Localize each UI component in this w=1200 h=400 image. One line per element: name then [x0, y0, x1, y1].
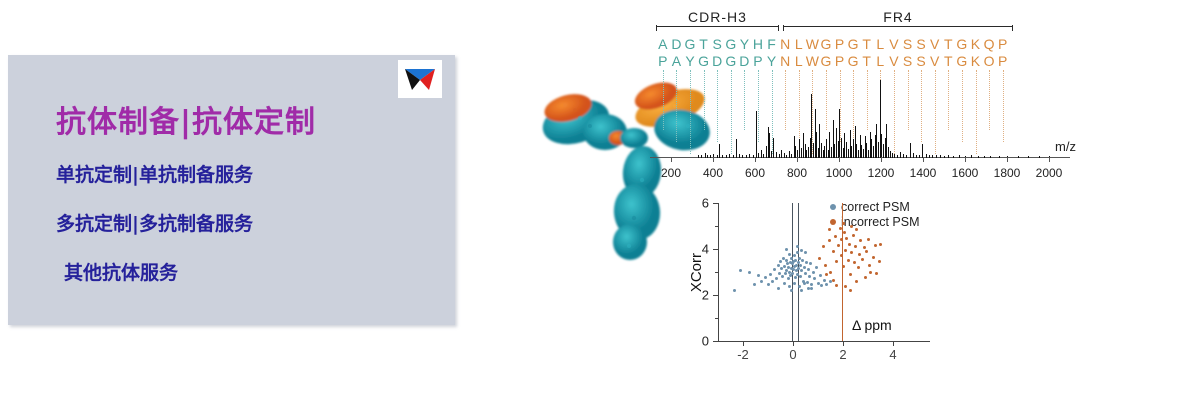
scatter-point-correct [793, 254, 796, 257]
spectrum-peak [710, 155, 711, 158]
spectrum-peak [701, 155, 702, 158]
scatter-point-incorrect [858, 253, 861, 256]
spectrum-peak [729, 154, 730, 158]
scatter-point-incorrect [878, 260, 881, 263]
bottom-residue: V [887, 53, 901, 70]
scatter-point-correct [778, 272, 781, 275]
top-residue: W [806, 36, 820, 53]
scatter-point-incorrect [849, 273, 852, 276]
bottom-residue: G [724, 53, 738, 70]
scatter-point-correct [769, 273, 772, 276]
list-item-mab[interactable]: 单抗定制|单抗制备服务 [56, 160, 436, 187]
bottom-residue: L [792, 53, 806, 70]
scatter-y-tick-label: 0 [702, 334, 709, 349]
scatter-y-minor-tick [715, 318, 718, 319]
mz-tick [755, 157, 756, 162]
scatter-point-correct [803, 282, 806, 285]
scatter-y-tick: 4 [713, 249, 718, 250]
scatter-point-correct [820, 284, 823, 287]
scatter-point-correct [799, 275, 802, 278]
top-residue: P [833, 36, 847, 53]
scatter-point-correct [773, 268, 776, 271]
bottom-residue: G [846, 53, 860, 70]
spectrum-peak [892, 153, 893, 158]
scatter-point-correct [733, 289, 736, 292]
spectrum-peak [984, 156, 985, 158]
scatter-point-incorrect [850, 251, 853, 254]
scatter-point-correct [817, 282, 820, 285]
spectrum-peak [913, 153, 914, 158]
scatter-point-correct [757, 274, 760, 277]
scatter-point-correct [788, 253, 791, 256]
mz-tick-label: 2000 [1036, 166, 1063, 180]
list-item-other[interactable]: 其他抗体服务 [64, 258, 436, 285]
top-residue: G [955, 36, 969, 53]
scatter-point-incorrect [855, 228, 858, 231]
scatter-point-incorrect [822, 245, 825, 248]
list-item-pab[interactable]: 多抗定制|多抗制备服务 [56, 209, 436, 236]
mz-tick [881, 157, 882, 162]
spectrum-peak [736, 139, 737, 158]
legend-label: correct PSM [841, 200, 910, 214]
scatter-point-correct [771, 280, 774, 283]
scatter-x-tick [743, 341, 744, 346]
spectrum-peak [940, 155, 941, 158]
spectrum-peak [758, 153, 759, 158]
bracket-bar [783, 26, 1013, 27]
top-residue: T [860, 36, 874, 53]
spectrum-peak [789, 151, 790, 158]
scatter-point-incorrect [844, 285, 847, 288]
scatter-point-correct [806, 281, 809, 284]
psm-scatter-plot: XCorr Δ ppm correct PSM incorrect PSM 02… [680, 195, 950, 370]
spectrum-peak [1028, 156, 1029, 158]
scatter-point-incorrect [828, 239, 831, 242]
scatter-point-incorrect [848, 243, 851, 246]
scatter-point-correct [799, 264, 802, 267]
bottom-residue: P [996, 53, 1010, 70]
spectrum-peak [791, 154, 792, 158]
top-residue: Q [982, 36, 996, 53]
top-residue: V [887, 36, 901, 53]
mz-tick-label: 1000 [826, 166, 853, 180]
mz-tick [1007, 157, 1008, 162]
spectrum-peak [776, 152, 777, 158]
bottom-residue: N [778, 53, 792, 70]
top-residue: K [969, 36, 983, 53]
scatter-point-correct [810, 283, 813, 286]
spectrum-peak [971, 155, 972, 158]
bottom-residue: P [751, 53, 765, 70]
spectrum-peak [779, 154, 780, 158]
spectrum-peak [742, 155, 743, 158]
top-residue: N [778, 36, 792, 53]
scatter-point-correct [775, 277, 778, 280]
spectrum-peak [897, 155, 898, 158]
spectrum-peak [999, 156, 1000, 158]
mz-tick-label: 800 [787, 166, 807, 180]
scatter-point-correct [791, 272, 794, 275]
top-residue: S [710, 36, 724, 53]
spectrum-peak [1018, 156, 1019, 158]
mz-tick [1049, 157, 1050, 162]
top-residue: F [765, 36, 779, 53]
spectrum-peak [773, 138, 774, 158]
bottom-residue: P [833, 53, 847, 70]
bottom-residue: G [697, 53, 711, 70]
spectrum-peak [929, 155, 930, 158]
scatter-x-tick-label: 0 [789, 347, 796, 362]
scatter-point-incorrect [859, 239, 862, 242]
scatter-point-correct [823, 279, 826, 282]
spectrum-peak [932, 155, 933, 158]
scatter-point-correct [748, 271, 751, 274]
page-title: 抗体制备|抗体定制 [56, 97, 316, 141]
spectrum-peak [959, 155, 960, 158]
scatter-point-correct [788, 285, 791, 288]
spectrum-peak [749, 154, 750, 158]
region-label-text: FR4 [878, 9, 917, 25]
scatter-point-incorrect [874, 244, 877, 247]
scatter-point-incorrect [835, 260, 838, 263]
top-residue: G [683, 36, 697, 53]
scatter-point-incorrect [875, 272, 878, 275]
mz-tick-label: 400 [703, 166, 723, 180]
scatter-point-correct [790, 289, 793, 292]
top-residue: D [670, 36, 684, 53]
legend-dot-icon [830, 219, 836, 225]
scatter-point-incorrect [832, 279, 835, 282]
scatter-point-incorrect [818, 257, 821, 260]
scatter-threshold-line [798, 203, 799, 341]
mz-tick [713, 157, 714, 162]
bottom-residue: D [738, 53, 752, 70]
bottom-residue: D [710, 53, 724, 70]
bottom-residue: L [874, 53, 888, 70]
legend-item-correct: correct PSM [830, 199, 920, 214]
bottom-residue: S [901, 53, 915, 70]
scatter-x-tick-label: 4 [889, 347, 896, 362]
region-label: FR4 [783, 9, 1013, 25]
scatter-y-tick-label: 4 [702, 242, 709, 257]
bottom-residue: G [955, 53, 969, 70]
scatter-x-tick [793, 341, 794, 346]
mz-tick-label: 1800 [994, 166, 1021, 180]
spectrum-peak [746, 155, 747, 158]
scatter-point-incorrect [867, 238, 870, 241]
scatter-point-correct [785, 248, 788, 251]
scatter-point-incorrect [832, 250, 835, 253]
scatter-point-incorrect [843, 231, 846, 234]
spectrum-peak [922, 144, 923, 158]
company-logo-icon [398, 60, 442, 98]
bottom-residue: T [941, 53, 955, 70]
spectrum-peak [771, 151, 772, 158]
sequence-alignment: ADGTSGYHFNLWGPGTLVSSVTGKQP PAYGDGDPYNLWG… [656, 36, 1009, 70]
region-label: CDR-H3 [656, 9, 779, 25]
bottom-residue: A [670, 53, 684, 70]
scatter-point-correct [825, 283, 828, 286]
spectrum-peak [903, 154, 904, 158]
spectrum-peak [761, 150, 762, 158]
spectrum-peak [705, 153, 706, 158]
mz-tick [797, 157, 798, 162]
top-residue: A [656, 36, 670, 53]
top-residue: G [724, 36, 738, 53]
spectrum-peak [936, 155, 937, 158]
spectrum-peak [717, 155, 718, 158]
spectrum-peak [1039, 156, 1040, 158]
scatter-point-correct [783, 265, 786, 268]
spectrum-peak [733, 155, 734, 158]
spectrum-peak [799, 139, 800, 158]
scatter-x-tick-label: 2 [839, 347, 846, 362]
spectrum-peak [910, 143, 911, 158]
scatter-x-tick-label: -2 [737, 347, 749, 362]
scatter-point-incorrect [868, 264, 871, 267]
scatter-point-correct [779, 260, 782, 263]
spectrum-peak [906, 155, 907, 158]
top-residue: T [697, 36, 711, 53]
scatter-point-correct [777, 264, 780, 267]
scatter-y-axis-label: XCorr [688, 253, 705, 292]
spectrum-peak [894, 154, 895, 158]
scatter-point-incorrect [839, 227, 842, 230]
scatter-point-incorrect [828, 228, 831, 231]
scatter-point-incorrect [834, 235, 837, 238]
scatter-point-incorrect [861, 258, 864, 261]
spectrum-peak [978, 156, 979, 158]
scatter-y-tick-label: 2 [702, 288, 709, 303]
scatter-point-correct [800, 249, 803, 252]
spectrum-peak [722, 155, 723, 158]
scatter-point-incorrect [849, 289, 852, 292]
scatter-point-incorrect [842, 222, 845, 225]
scatter-point-incorrect [863, 246, 866, 249]
scatter-point-correct [809, 262, 812, 265]
spectrum-peak [726, 155, 727, 158]
bracket-bar [656, 26, 779, 27]
top-residue: S [914, 36, 928, 53]
bottom-residue: P [656, 53, 670, 70]
spectrum-peak [990, 156, 991, 158]
scientific-figure: CDR-H3 FR4 ADGTSGYHFNLWGPGTLVSSVTGKQP PA… [520, 0, 1200, 400]
scatter-point-incorrect [857, 266, 860, 269]
scatter-point-correct [764, 276, 767, 279]
spectrum-peak [784, 153, 785, 158]
scatter-point-correct [819, 274, 822, 277]
scatter-point-correct [804, 272, 807, 275]
mz-tick-label: 600 [745, 166, 765, 180]
spectrum-peak [698, 155, 699, 158]
scatter-point-correct [787, 277, 790, 280]
spectrum-peak [756, 111, 757, 158]
scatter-x-tick [843, 341, 844, 346]
scatter-point-incorrect [852, 234, 855, 237]
spectrum-peak [953, 156, 954, 158]
scatter-point-correct [800, 269, 803, 272]
spectrum-peak [786, 155, 787, 158]
mz-tick-label: 200 [661, 166, 681, 180]
sequence-row-bottom: PAYGDGDPYNLWGPGTLVSSVTGKOP [656, 53, 1009, 70]
bottom-residue: G [819, 53, 833, 70]
region-label-text: CDR-H3 [683, 9, 752, 25]
bottom-residue: K [969, 53, 983, 70]
bottom-residue: O [982, 53, 996, 70]
spectrum-peak [781, 150, 782, 158]
scatter-point-correct [808, 275, 811, 278]
mz-tick-label: 1400 [910, 166, 937, 180]
scatter-point-incorrect [845, 237, 848, 240]
scatter-point-incorrect [872, 256, 875, 259]
mz-tick [965, 157, 966, 162]
scatter-y-tick: 0 [713, 341, 718, 342]
bottom-residue: T [860, 53, 874, 70]
top-residue: G [819, 36, 833, 53]
scatter-x-axis [718, 341, 930, 342]
scatter-point-incorrect [824, 264, 827, 267]
spectrum-peak [900, 152, 901, 158]
spectrum-peak [739, 154, 740, 158]
scatter-y-tick: 6 [713, 203, 718, 204]
spectrum-peak [948, 155, 949, 158]
scatter-point-incorrect [829, 271, 832, 274]
top-residue: T [941, 36, 955, 53]
scatter-point-incorrect [855, 280, 858, 283]
scatter-point-correct [800, 289, 803, 292]
sequence-row-top: ADGTSGYHFNLWGPGTLVSSVTGKQP [656, 36, 1009, 53]
mz-tick [839, 157, 840, 162]
legend-dot-icon [830, 204, 836, 210]
scatter-point-correct [812, 271, 815, 274]
scatter-point-incorrect [850, 225, 853, 228]
scatter-point-correct [796, 251, 799, 254]
scatter-point-incorrect [879, 243, 882, 246]
mz-axis-label: m/z [1055, 139, 1076, 154]
spectrum-peak [926, 154, 927, 158]
scatter-y-minor-tick [715, 226, 718, 227]
mz-tick-label: 1200 [868, 166, 895, 180]
scatter-y-axis [718, 203, 719, 341]
scatter-point-correct [807, 268, 810, 271]
bottom-residue: W [806, 53, 820, 70]
scatter-point-incorrect [840, 238, 843, 241]
scatter-point-correct [793, 282, 796, 285]
scatter-point-correct [784, 272, 787, 275]
bottom-residue: V [928, 53, 942, 70]
top-residue: G [846, 36, 860, 53]
scatter-point-incorrect [825, 273, 828, 276]
scatter-point-correct [781, 275, 784, 278]
scatter-point-correct [813, 277, 816, 280]
scatter-point-incorrect [864, 276, 867, 279]
promo-panel: 抗体制备|抗体定制 单抗定制|单抗制备服务 多抗定制|多抗制备服务 其他抗体服务 [8, 55, 455, 325]
scatter-point-incorrect [853, 261, 856, 264]
spectrum-peak [919, 155, 920, 158]
scatter-point-correct [783, 282, 786, 285]
bottom-residue: Y [683, 53, 697, 70]
scatter-y-tick: 2 [713, 295, 718, 296]
scatter-point-incorrect [844, 249, 847, 252]
spectrum-peak [707, 155, 708, 158]
scatter-point-correct [805, 261, 808, 264]
spectrum-peak [719, 144, 720, 158]
top-residue: S [901, 36, 915, 53]
scatter-point-correct [794, 276, 797, 279]
spectrum-peak [753, 155, 754, 158]
scatter-point-incorrect [847, 259, 850, 262]
top-residue: V [928, 36, 942, 53]
spectrum-peak [763, 154, 764, 158]
scatter-point-incorrect [854, 245, 857, 248]
top-residue: Y [738, 36, 752, 53]
scatter-point-correct [801, 259, 804, 262]
scatter-point-incorrect [865, 250, 868, 253]
scatter-point-correct [810, 287, 813, 290]
scatter-point-correct [804, 251, 807, 254]
mz-tick [671, 157, 672, 162]
mz-tick-label: 1600 [952, 166, 979, 180]
top-residue: P [996, 36, 1010, 53]
mz-tick [923, 157, 924, 162]
bottom-residue: Y [765, 53, 779, 70]
spectrum-peak [916, 155, 917, 158]
scatter-point-correct [807, 287, 810, 290]
top-residue: L [874, 36, 888, 53]
spectrum-peak [944, 156, 945, 158]
scatter-point-correct [777, 287, 780, 290]
service-list: 单抗定制|单抗制备服务 多抗定制|多抗制备服务 其他抗体服务 [56, 160, 436, 307]
top-residue: H [751, 36, 765, 53]
scatter-point-incorrect [837, 244, 840, 247]
scatter-point-incorrect [842, 265, 845, 268]
scatter-y-minor-tick [715, 272, 718, 273]
scatter-point-correct [767, 283, 770, 286]
scatter-point-incorrect [835, 284, 838, 287]
top-residue: L [792, 36, 806, 53]
scatter-point-correct [815, 266, 818, 269]
scatter-x-tick [893, 341, 894, 346]
scatter-point-incorrect [869, 271, 872, 274]
scatter-point-correct [760, 280, 763, 283]
scatter-x-axis-label: Δ ppm [852, 317, 892, 333]
scatter-point-correct [739, 269, 742, 272]
mass-spectrum-plot: m/z 200400600800100012001400160018002000 [650, 70, 1070, 180]
scatter-point-correct [753, 283, 756, 286]
bottom-residue: S [914, 53, 928, 70]
page-root: 抗体制备|抗体定制 单抗定制|单抗制备服务 多抗定制|多抗制备服务 其他抗体服务 [0, 0, 1200, 400]
scatter-point-correct [803, 266, 806, 269]
scatter-y-tick-label: 6 [702, 196, 709, 211]
